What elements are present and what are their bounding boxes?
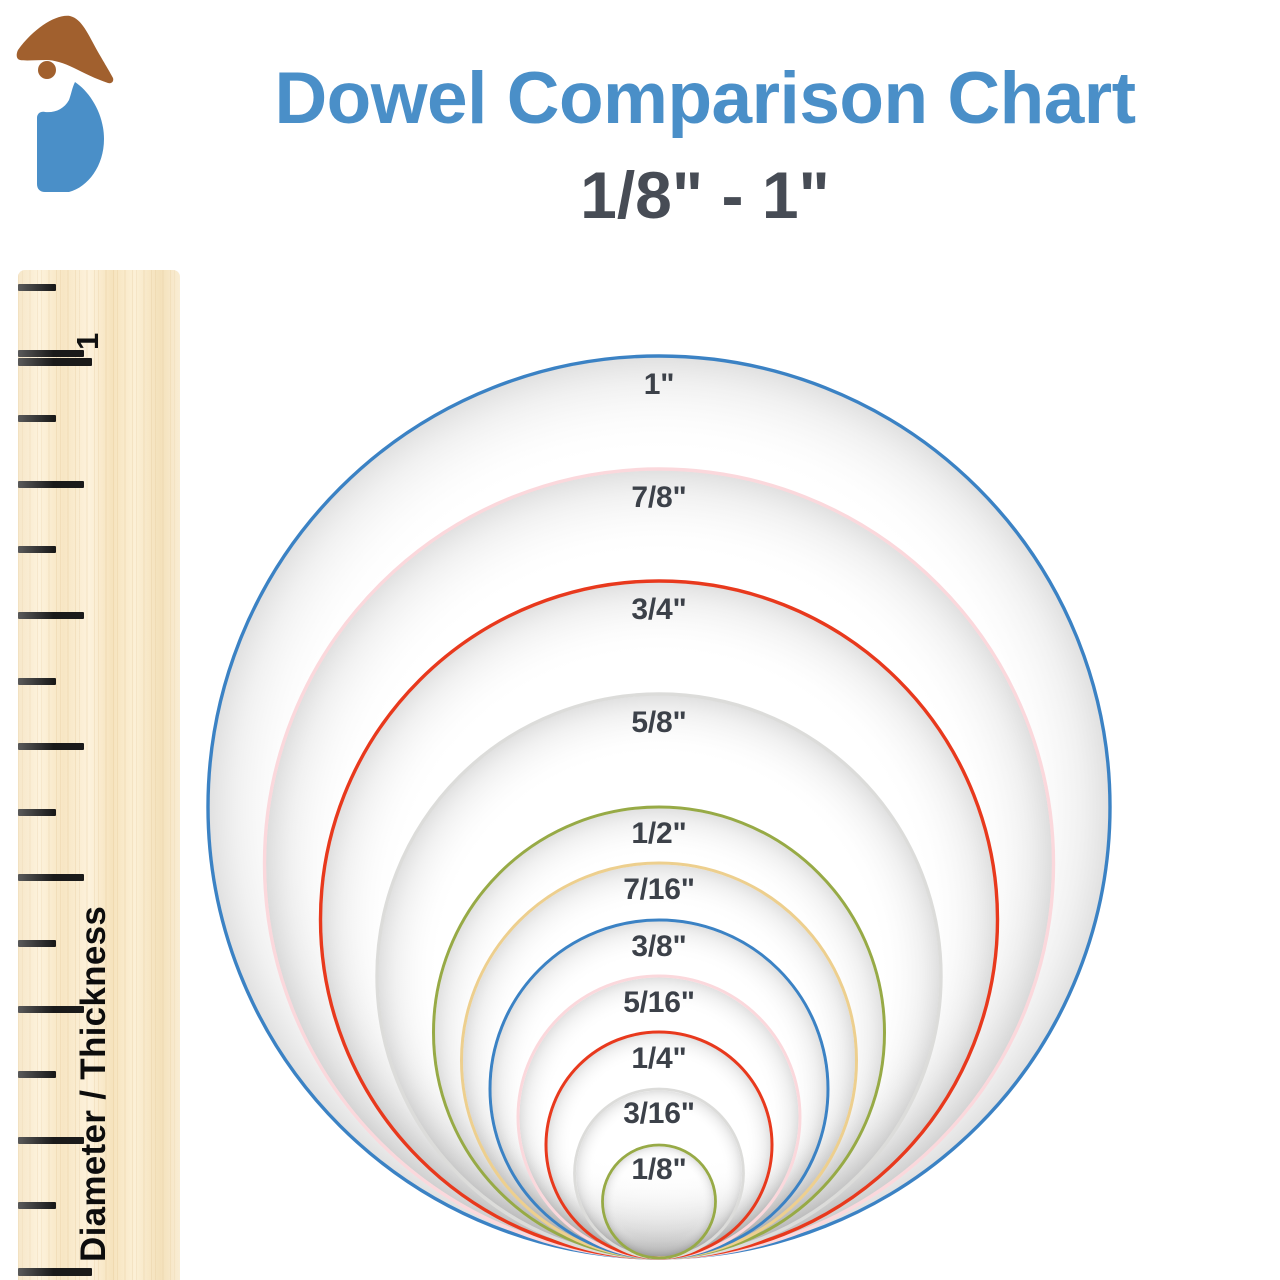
dowel-circles-svg [0, 0, 1280, 1280]
dowel-label: 1/2" [631, 817, 686, 851]
dowel-label: 1/4" [631, 1042, 686, 1076]
dowel-label: 7/8" [631, 481, 686, 515]
dowel-circles: 1"7/8"3/4"5/8"1/2"7/16"3/8"5/16"1/4"3/16… [0, 0, 1280, 1280]
dowel-label: 3/16" [623, 1097, 695, 1131]
dowel-label: 5/8" [631, 706, 686, 740]
dowel-label: 5/16" [623, 986, 695, 1020]
chart-page: Dowel Comparison Chart 1/8" - 1" 1 Diame… [0, 0, 1280, 1280]
dowel-label: 3/8" [631, 930, 686, 964]
dowel-label: 3/4" [631, 593, 686, 627]
dowel-label: 1/8" [631, 1153, 686, 1187]
dowel-label: 1" [644, 368, 675, 402]
dowel-label: 7/16" [623, 873, 695, 907]
